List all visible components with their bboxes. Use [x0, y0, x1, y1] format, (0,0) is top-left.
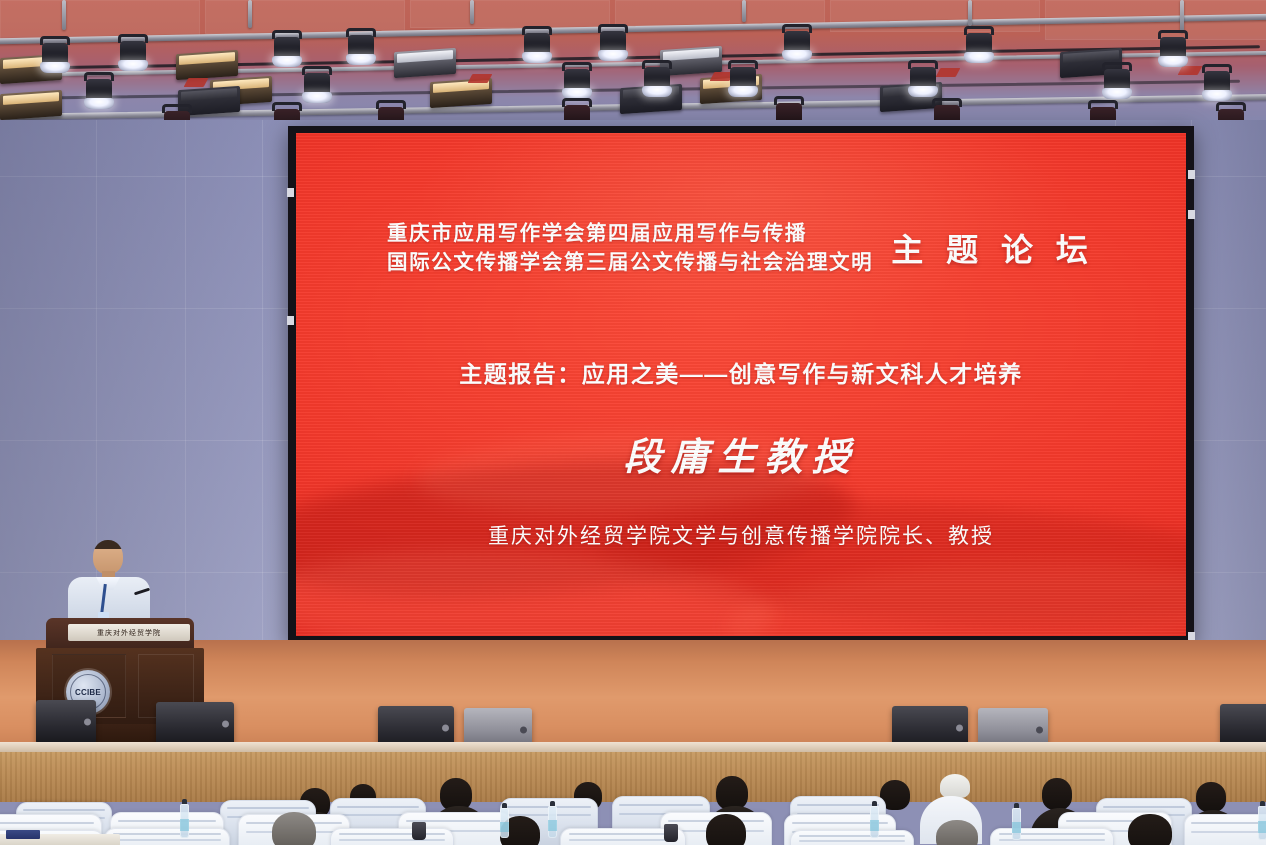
- drop-rod: [248, 0, 252, 28]
- drop-rod: [742, 0, 746, 22]
- audience-area: [0, 756, 1266, 845]
- ceiling-lighting-rig: [0, 0, 1266, 132]
- ceiling-tile: [410, 0, 610, 28]
- spotlight-icon: [1156, 30, 1190, 70]
- spotlight-icon: [726, 60, 760, 100]
- slide-title-stack: 重庆市应用写作学会第四届应用写作与传播 国际公文传播学会第三届公文传播与社会治理…: [387, 221, 873, 276]
- water-bottle-icon: [180, 804, 189, 838]
- water-bottle-icon: [500, 808, 509, 838]
- water-bottle-icon: [1258, 806, 1266, 840]
- slide-content: 重庆市应用写作学会第四届应用写作与传播 国际公文传播学会第三届公文传播与社会治理…: [296, 133, 1186, 636]
- audience-head: [1042, 778, 1072, 810]
- led-screen-frame: 重庆市应用写作学会第四届应用写作与传播 国际公文传播学会第三届公文传播与社会治理…: [288, 126, 1194, 644]
- slide-subtitle: 主题报告：应用之美——创意写作与新文科人才培养: [296, 355, 1186, 389]
- screen-mount-clip: [1188, 170, 1195, 179]
- presenter-head: [93, 540, 123, 574]
- screen-mount-clip: [287, 316, 294, 325]
- spotlight-icon: [962, 26, 996, 66]
- spotlight-icon: [1100, 62, 1134, 102]
- slide-title-highlight: 主 题 论 坛: [891, 225, 1095, 273]
- drop-rod: [62, 0, 66, 30]
- flood-light-icon: [176, 50, 238, 80]
- school-seal-text: CCIBE: [75, 688, 101, 697]
- water-bottle-icon: [1012, 808, 1021, 840]
- auditorium-seat: [790, 830, 914, 845]
- auditorium-seat: [1184, 814, 1266, 845]
- audience-head-with-cap: [940, 774, 970, 798]
- spotlight-icon: [1200, 64, 1234, 104]
- spotlight-icon: [906, 60, 940, 100]
- flood-light-icon: [394, 48, 456, 78]
- audience-head: [716, 776, 748, 810]
- drop-rod: [470, 0, 474, 24]
- screen-mount-clip: [287, 188, 294, 197]
- slide-affiliation: 重庆对外经贸学院文学与创意传播学院院长、教授: [296, 520, 1186, 550]
- flood-light-icon: [0, 90, 62, 120]
- conference-hall-photo: 重庆市应用写作学会第四届应用写作与传播 国际公文传播学会第三届公文传播与社会治理…: [0, 0, 1266, 845]
- spotlight-icon: [82, 72, 116, 112]
- spotlight-icon: [520, 26, 554, 66]
- slide-title-line-1: 重庆市应用写作学会第四届应用写作与传播: [387, 221, 873, 247]
- water-bottle-icon: [548, 806, 557, 838]
- water-bottle-icon: [870, 806, 879, 838]
- auditorium-seat: [104, 828, 230, 845]
- slide-title-line-2: 国际公文传播学会第三届公文传播与社会治理文明: [387, 250, 873, 276]
- slide-title-row: 重庆市应用写作学会第四届应用写作与传播 国际公文传播学会第三届公文传播与社会治理…: [296, 221, 1186, 276]
- spotlight-icon: [560, 62, 594, 102]
- spotlight-icon: [38, 36, 72, 76]
- led-screen: 重庆市应用写作学会第四届应用写作与传播 国际公文传播学会第三届公文传播与社会治理…: [296, 133, 1186, 636]
- audience-head: [1128, 814, 1172, 845]
- tumbler-cup: [664, 824, 678, 842]
- tumbler-cup: [412, 822, 426, 840]
- spotlight-icon: [596, 24, 630, 64]
- spotlight-icon: [344, 28, 378, 68]
- slide-speaker-name: 段庸生教授: [296, 426, 1186, 481]
- audience-head: [1196, 782, 1226, 812]
- drop-rod: [1180, 0, 1184, 32]
- audience-head: [272, 812, 316, 845]
- audience-head: [936, 820, 978, 845]
- podium-nameplate: 重庆对外经贸学院: [68, 624, 190, 641]
- podium-top: 重庆对外经贸学院: [46, 618, 194, 650]
- auditorium-seat: [330, 828, 454, 845]
- podium-nameplate-text: 重庆对外经贸学院: [97, 628, 161, 638]
- spotlight-icon: [116, 34, 150, 74]
- stage-monitor-icon: [36, 700, 96, 744]
- spotlight-icon: [270, 30, 304, 70]
- spotlight-icon: [300, 66, 334, 106]
- auditorium-seat: [990, 828, 1114, 845]
- barn-door: [184, 78, 209, 87]
- stage-monitor-icon: [156, 702, 234, 746]
- spotlight-icon: [780, 24, 814, 64]
- drop-rod: [968, 0, 972, 26]
- spotlight-icon: [640, 60, 674, 100]
- audience-head: [706, 814, 746, 845]
- screen-mount-clip: [1188, 210, 1195, 219]
- conference-booklet: [6, 830, 40, 839]
